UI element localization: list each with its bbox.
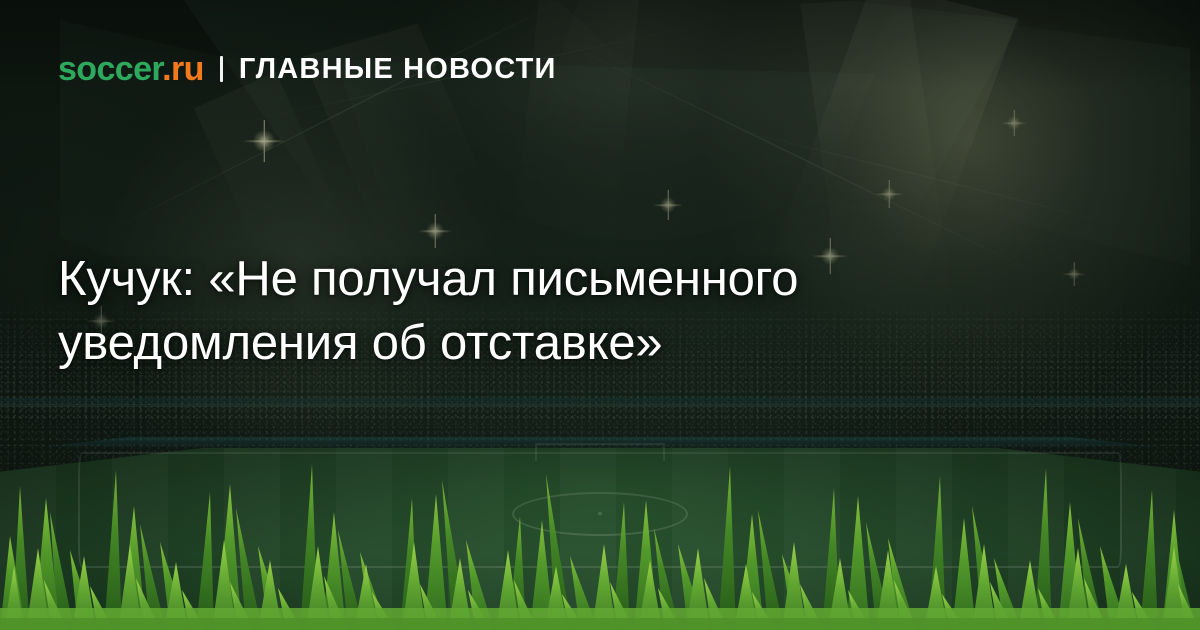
light-glint-icon [653,190,683,220]
grass-blades-illustration [0,440,1200,630]
roof-facet [540,0,1020,250]
soccer-ru-logo[interactable]: soccer.ru [58,52,204,86]
light-glint-icon [1062,262,1086,286]
roof-edge-line [90,0,643,241]
header-kicker-label: ГЛАВНЫЕ НОВОСТИ [239,55,557,84]
stadium-tier-divider [0,404,1200,407]
article-headline: Кучук: «Не получал письменного уведомлен… [58,248,1058,375]
logo-name-text: soccer [58,50,162,88]
site-header: soccer.ru ГЛАВНЫЕ НОВОСТИ [58,52,557,86]
light-glint-icon [875,180,903,208]
light-glint-icon [1001,110,1027,136]
news-card: soccer.ru ГЛАВНЫЕ НОВОСТИ Кучук: «Не пол… [0,0,1200,630]
foreground-grass [0,440,1200,630]
logo-domain-text: .ru [162,50,204,88]
light-glint-icon [243,120,285,162]
light-glint-icon [418,214,452,248]
headline-line-2: уведомления об отставке» [58,312,1058,376]
header-separator-bar [220,56,223,82]
roof-edge-line [700,120,1147,232]
floodlight-glow [380,0,900,240]
headline-line-1: Кучук: «Не получал письменного [58,248,1058,312]
roof-facet [180,0,700,250]
